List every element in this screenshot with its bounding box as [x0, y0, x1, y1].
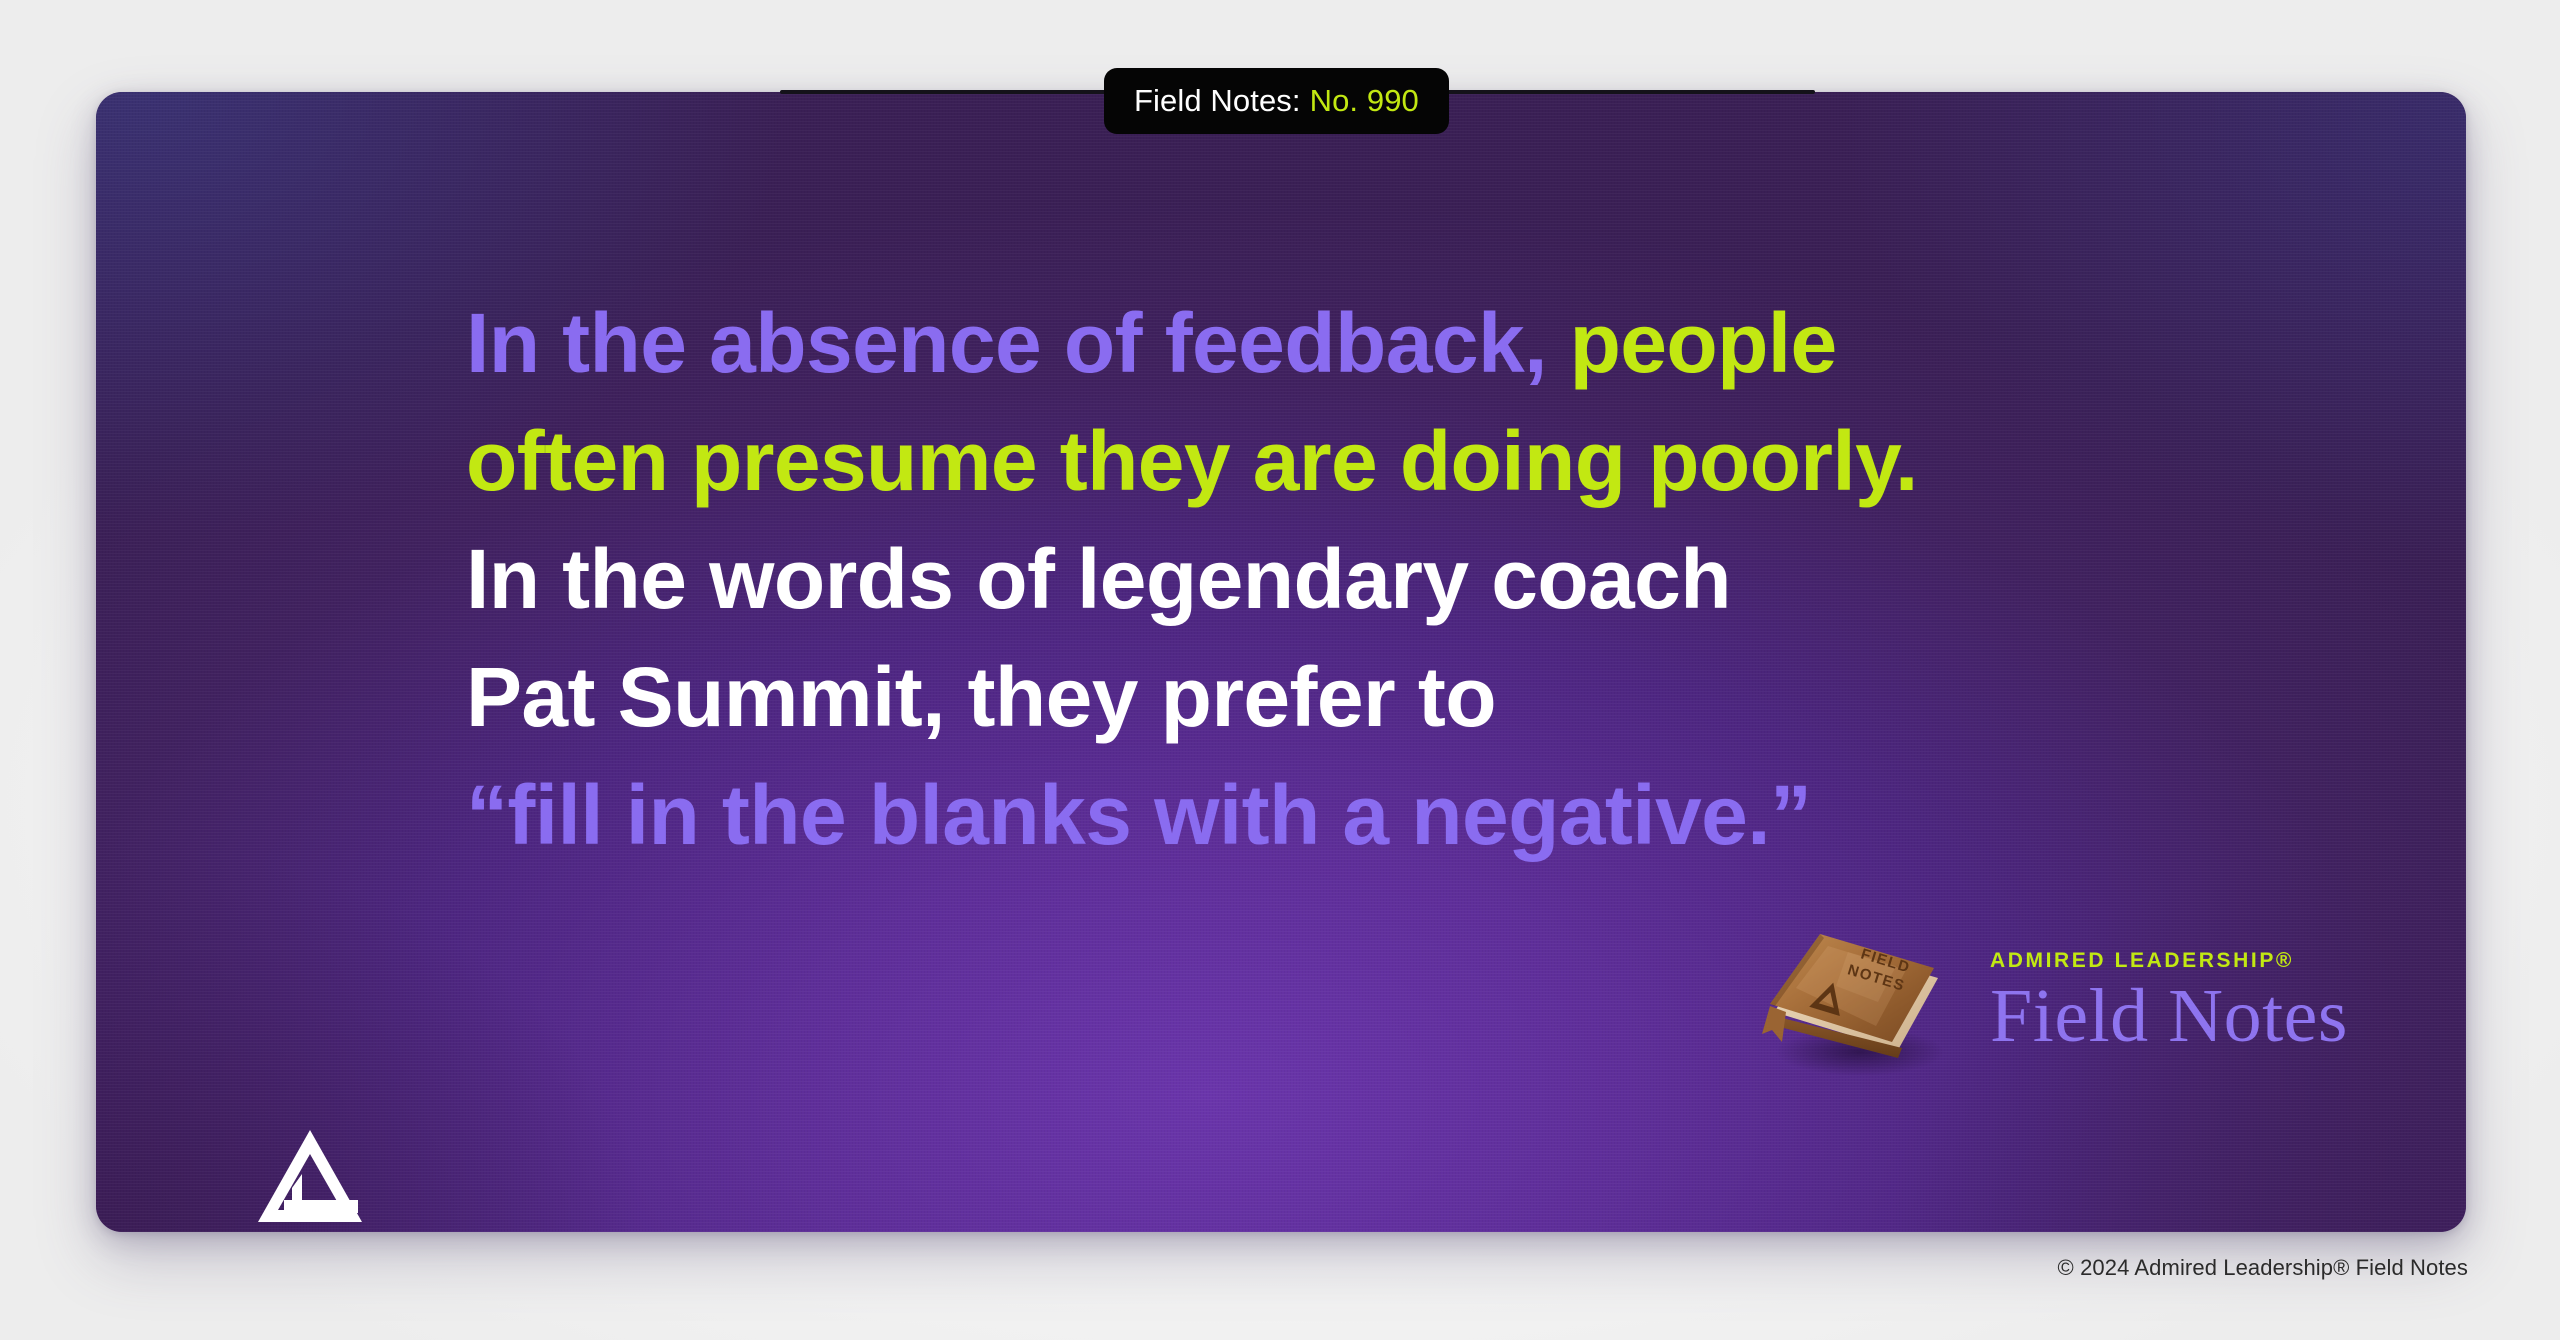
quote-line: often presume they are doing poorly. [466, 402, 2266, 520]
brand-lockup: FIELD NOTES ADMIRED LEADERSHIP® Field No… [1756, 916, 2348, 1086]
brand-kicker: ADMIRED LEADERSHIP® [1990, 949, 2348, 973]
field-notes-number-badge: Field Notes: No. 990 [1104, 68, 1449, 134]
quote-segment: often presume they are doing poorly. [466, 414, 1918, 508]
copyright-text: © 2024 Admired Leadership® Field Notes [2058, 1255, 2468, 1281]
badge-number: No. 990 [1310, 83, 1419, 119]
quote-segment: “fill in the blanks with a negative.” [466, 768, 1811, 862]
field-notes-card-wrapper: In the absence of feedback, people often… [96, 92, 2466, 1232]
badge-label: Field Notes: [1134, 83, 1301, 119]
quote-line: Pat Summit, they prefer to [466, 638, 2266, 756]
quote-segment: In the words of legendary coach [466, 532, 1731, 626]
quote-segment: In the absence of feedback, [466, 296, 1547, 390]
quote-block: In the absence of feedback, people often… [466, 284, 2266, 874]
quote-line: In the absence of feedback, people [466, 284, 2266, 402]
quote-line: “fill in the blanks with a negative.” [466, 756, 2266, 874]
field-notes-notebook-icon: FIELD NOTES [1756, 916, 1956, 1086]
brand-text-group: ADMIRED LEADERSHIP® Field Notes [1990, 949, 2348, 1053]
quote-segment: Pat Summit, they prefer to [466, 650, 1496, 744]
quote-segment: people [1570, 296, 1837, 390]
admired-leadership-logo-icon [256, 1128, 364, 1228]
brand-title: Field Notes [1990, 979, 2348, 1053]
quote-line: In the words of legendary coach [466, 520, 2266, 638]
